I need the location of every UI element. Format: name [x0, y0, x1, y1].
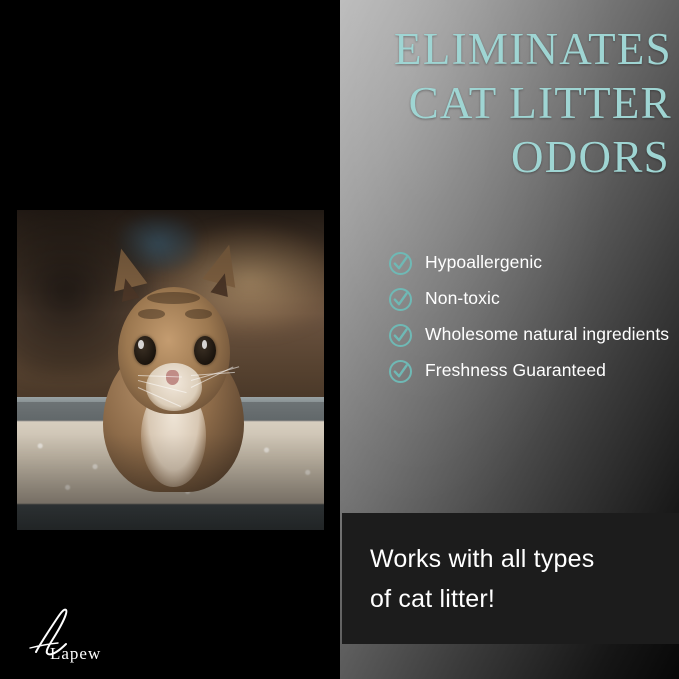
brand-name: Lapew [50, 644, 101, 664]
feature-item: Non-toxic [388, 286, 673, 312]
feature-item: Hypoallergenic [388, 250, 673, 276]
headline: ELIMINATES CAT LITTER ODORS [300, 22, 672, 184]
feature-label: Wholesome natural ingredients [425, 322, 669, 346]
kitten-eye-left [134, 336, 156, 365]
check-circle-icon [388, 323, 413, 348]
feature-item: Wholesome natural ingredients [388, 322, 673, 348]
kitten-ear-inner-right [210, 271, 233, 297]
callout-text: Works with all types of cat litter! [370, 539, 662, 619]
check-circle-icon [388, 251, 413, 276]
callout-line-1: Works with all types [370, 539, 662, 579]
callout-panel: Works with all types of cat litter! [342, 513, 679, 644]
callout-line-2: of cat litter! [370, 579, 662, 619]
product-ad-image: ELIMINATES CAT LITTER ODORS [0, 0, 679, 679]
headline-line-2: CAT LITTER [300, 76, 672, 130]
check-circle-icon [388, 287, 413, 312]
kitten [100, 248, 247, 491]
brand-logo: Lapew [26, 604, 166, 666]
kitten-forehead-stripe [185, 309, 212, 319]
kitten-forehead-stripe [138, 309, 165, 319]
headline-line-3: ODORS [300, 130, 672, 184]
product-photo [17, 210, 324, 530]
photo-scene [17, 210, 324, 530]
feature-list: Hypoallergenic Non-toxic Wholesome natur… [388, 250, 673, 394]
headline-line-1: ELIMINATES [300, 22, 672, 76]
check-circle-icon [388, 359, 413, 384]
feature-label: Hypoallergenic [425, 250, 542, 274]
feature-item: Freshness Guaranteed [388, 358, 673, 384]
feature-label: Non-toxic [425, 286, 500, 310]
feature-label: Freshness Guaranteed [425, 358, 606, 382]
